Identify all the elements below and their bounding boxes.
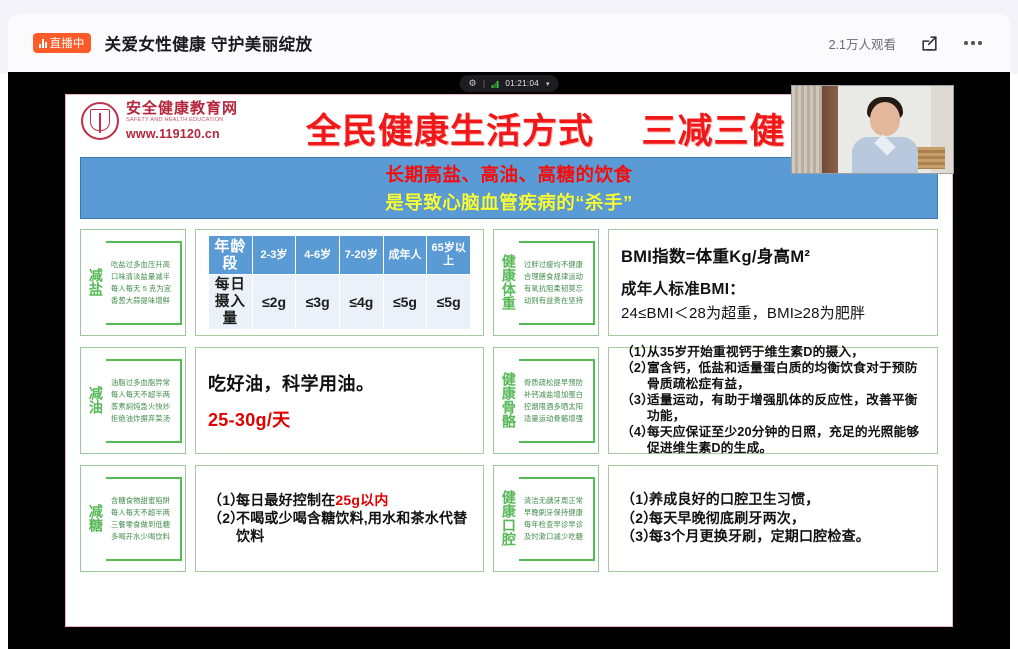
keyword-line: 三餐零食做到低糖	[111, 520, 178, 530]
list-item-text: 养成良好的口腔卫生习惯，	[649, 491, 925, 509]
keyword-lines: 含糖食物甜蜜陷阱 每人每天不超半两 三餐零食做到低糖 多喝开水少喝饮料	[106, 477, 182, 561]
viewer-count: 2.1万人观看	[829, 34, 896, 53]
content-row-salt: 减盐 吃盐过多血压升高 口味清淡盐量减半 每人每天 5 克为宜 香葱大蒜提味增鲜…	[80, 229, 938, 336]
header-actions: 2.1万人观看	[829, 32, 1010, 54]
keyword-line: 多喝开水少喝饮料	[111, 532, 178, 542]
keyword-label: 减糖	[84, 472, 106, 564]
keyword-line: 合理膳食规律运动	[524, 272, 591, 282]
list-item-number: （4）	[621, 425, 647, 456]
keyword-lines: 过胖过瘦均不健康 合理膳食规律运动 有氧抗阻柔韧莫忘 动则有益贵在坚持	[519, 241, 595, 325]
list-item-text: 每天应保证至少20分钟的日照，充足的光照能够促进维生素D的生成。	[647, 425, 925, 456]
keyword-line: 油脂过多血脂异常	[111, 378, 178, 388]
keyword-line: 蒸煮焖炖急火快炒	[111, 402, 178, 412]
keyword-lines: 吃盐过多血压升高 口味清淡盐量减半 每人每天 5 克为宜 香葱大蒜提味增鲜	[106, 241, 182, 325]
list-item-text: 不喝或少喝含糖饮料,用水和茶水代替饮料	[236, 510, 471, 545]
banner-line-1: 长期高盐、高油、高糖的饮食	[385, 161, 632, 187]
list-item-number: （2）	[208, 510, 236, 545]
keyword-line: 动则有益贵在坚持	[524, 296, 591, 306]
live-status-badge: 直播中	[33, 33, 91, 53]
list-item-text: 每天早晚彻底刷牙两次，	[649, 510, 925, 528]
list-item: （1） 从35岁开始重视钙于维生素D的摄入，	[621, 345, 925, 360]
keyword-line: 过胖过瘦均不健康	[524, 260, 591, 270]
keyword-line: 控烟限酒多晒太阳	[524, 402, 591, 412]
keyword-line: 每年检查早诊早诊	[524, 520, 591, 530]
keyword-line: 每人每天 5 克为宜	[111, 284, 178, 294]
keyword-card-oil: 减油 油脂过多血脂异常 每人每天不超半两 蒸煮焖炖急火快炒 拒绝油炸摒弃菜汤	[80, 347, 186, 454]
list-item: （3） 适量运动，有助于增强肌体的反应性，改善平衡功能，	[621, 393, 925, 424]
table-header-cell: 7-20岁	[339, 235, 383, 275]
keyword-label: 健康骨骼	[497, 354, 519, 446]
table-header-cell: 成年人	[383, 235, 427, 275]
table-row: 每日摄入量 ≤2g ≤3g ≤4g ≤5g ≤5g	[209, 275, 471, 330]
keyword-line: 有氧抗阻柔韧莫忘	[524, 284, 591, 294]
table-row-label: 每日摄入量	[209, 275, 253, 330]
slide-title: 全民健康生活方式 三减三健	[306, 103, 786, 154]
video-control-pill[interactable]: ⚙ 01:21:04 ▾	[460, 75, 559, 92]
salt-intake-table-card: 年龄段 2-3岁 4-6岁 7-20岁 成年人 65岁以上 每日摄入量 ≤2g …	[195, 229, 484, 336]
live-badge-label: 直播中	[50, 35, 85, 51]
logo-name-en: SAFETY AND HEALTH EDUCATION	[126, 118, 238, 124]
keyword-card-sugar: 减糖 含糖食物甜蜜陷阱 每人每天不超半两 三餐零食做到低糖 多喝开水少喝饮料	[80, 465, 186, 572]
shield-logo-icon	[81, 102, 119, 140]
list-item-number: （1）	[621, 491, 649, 509]
keyword-lines: 清洁无龋牙周正常 早晚刷牙保持健康 每年检查早诊早诊 及时漱口减少吃糖	[519, 477, 595, 561]
list-item-text: 每日最好控制在25g以内	[236, 492, 471, 510]
keyword-line: 香葱大蒜提味增鲜	[111, 296, 178, 306]
list-item-number: （1）	[621, 345, 647, 360]
elapsed-time: 01:21:04	[505, 79, 539, 88]
list-item: （3） 每3个月更换牙刷，定期口腔检查。	[621, 528, 925, 546]
table-cell: ≤3g	[296, 275, 340, 330]
bone-health-card: （1） 从35岁开始重视钙于维生素D的摄入， （2） 富含钙，低盐和适量蛋白质的…	[608, 347, 938, 454]
more-options-icon[interactable]	[962, 32, 984, 54]
keyword-label: 健康口腔	[497, 472, 519, 564]
keyword-line: 口味清淡盐量减半	[111, 272, 178, 282]
oil-advice-card: 吃好油，科学用油。 25-30g/天	[195, 347, 484, 454]
table-header-cell: 65岁以上	[427, 235, 471, 275]
divider	[484, 80, 485, 88]
table-header-cell: 4-6岁	[296, 235, 340, 275]
oil-advice-line-1: 吃好油，科学用油。	[208, 370, 471, 396]
keyword-label: 减油	[84, 354, 106, 446]
list-item: （4） 每天应保证至少20分钟的日照，充足的光照能够促进维生素D的生成。	[621, 425, 925, 456]
bmi-standard-value: 24≤BMI＜28为超重，BMI≥28为肥胖	[621, 302, 925, 323]
presenter-webcam[interactable]	[791, 85, 954, 174]
list-item-text: 富含钙，低盐和适量蛋白质的均衡饮食对于预防骨质疏松症有益，	[647, 361, 925, 392]
table-header-cell: 2-3岁	[252, 235, 296, 275]
list-item: （2） 每天早晚彻底刷牙两次，	[621, 510, 925, 528]
video-stage[interactable]: ⚙ 01:21:04 ▾ 安全健康教育网	[8, 72, 1010, 649]
content-row-sugar: 减糖 含糖食物甜蜜陷阱 每人每天不超半两 三餐零食做到低糖 多喝开水少喝饮料 （…	[80, 465, 938, 572]
table-header-cell: 年龄段	[209, 235, 253, 275]
list-item: （2） 不喝或少喝含糖饮料,用水和茶水代替饮料	[208, 510, 471, 545]
bmi-standard-label: 成年人标准BMI：	[621, 277, 925, 299]
keyword-line: 吃盐过多血压升高	[111, 260, 178, 270]
keyword-card-salt: 减盐 吃盐过多血压升高 口味清淡盐量减半 每人每天 5 克为宜 香葱大蒜提味增鲜	[80, 229, 186, 336]
keyword-line: 每人每天不超半两	[111, 508, 178, 518]
slide-title-left: 全民健康生活方式	[306, 112, 594, 151]
logo-url: www.119120.cn	[126, 128, 238, 141]
list-item-text: 每3个月更换牙刷，定期口腔检查。	[649, 528, 925, 546]
bmi-card: BMI指数=体重Kg/身高M² 成年人标准BMI： 24≤BMI＜28为超重，B…	[608, 229, 938, 336]
keyword-label: 减盐	[84, 236, 106, 328]
keyword-card-healthy-bones: 健康骨骼 骨质疏松提早预防 补钙减盐增加蛋白 控烟限酒多晒太阳 适量运动骨骼增强	[493, 347, 599, 454]
bmi-formula: BMI指数=体重Kg/身高M²	[621, 243, 925, 267]
stream-header-card: 直播中 关爱女性健康 守护美丽绽放 2.1万人观看	[8, 14, 1010, 72]
list-item-number: （2）	[621, 510, 649, 528]
slide-title-right: 三减三健	[641, 112, 785, 151]
list-item-number: （1）	[208, 492, 236, 510]
stream-title: 关爱女性健康 守护美丽绽放	[105, 31, 313, 55]
table-cell: ≤4g	[339, 275, 383, 330]
list-item-number: （3）	[621, 393, 647, 424]
webcam-curtain	[792, 86, 822, 173]
banner-line-2: 是导致心脑血管疾病的“杀手”	[385, 189, 633, 215]
chevron-down-icon[interactable]: ▾	[546, 80, 550, 88]
external-link-icon[interactable]	[918, 32, 940, 54]
keyword-lines: 骨质疏松提早预防 补钙减盐增加蛋白 控烟限酒多晒太阳 适量运动骨骼增强	[519, 359, 595, 443]
content-row-oil: 减油 油脂过多血脂异常 每人每天不超半两 蒸煮焖炖急火快炒 拒绝油炸摒弃菜汤 吃…	[80, 347, 938, 454]
table-header-row: 年龄段 2-3岁 4-6岁 7-20岁 成年人 65岁以上	[209, 235, 471, 275]
presenter-head	[870, 102, 900, 136]
webcam-door	[822, 86, 838, 173]
oral-health-list: （1） 养成良好的口腔卫生习惯， （2） 每天早晚彻底刷牙两次， （3） 每3个…	[621, 491, 925, 546]
sugar-advice-card: （1） 每日最好控制在25g以内 （2） 不喝或少喝含糖饮料,用水和茶水代替饮料	[195, 465, 484, 572]
table-cell: ≤5g	[427, 275, 471, 330]
list-item: （1） 每日最好控制在25g以内	[208, 492, 471, 510]
keyword-line: 早晚刷牙保持健康	[524, 508, 591, 518]
keyword-line: 含糖食物甜蜜陷阱	[111, 496, 178, 506]
sugar-advice-list: （1） 每日最好控制在25g以内 （2） 不喝或少喝含糖饮料,用水和茶水代替饮料	[208, 492, 471, 546]
keyword-line: 适量运动骨骼增强	[524, 414, 591, 424]
list-item-number: （2）	[621, 361, 647, 392]
salt-intake-table: 年龄段 2-3岁 4-6岁 7-20岁 成年人 65岁以上 每日摄入量 ≤2g …	[208, 235, 471, 331]
logo-name-cn: 安全健康教育网	[126, 101, 238, 116]
keyword-label: 健康体重	[497, 236, 519, 328]
keyword-line: 补钙减盐增加蛋白	[524, 390, 591, 400]
list-item-text: 从35岁开始重视钙于维生素D的摄入，	[647, 345, 925, 360]
keyword-line: 骨质疏松提早预防	[524, 378, 591, 388]
list-item: （2） 富含钙，低盐和适量蛋白质的均衡饮食对于预防骨质疏松症有益，	[621, 361, 925, 392]
keyword-line: 拒绝油炸摒弃菜汤	[111, 414, 178, 424]
table-cell: ≤2g	[252, 275, 296, 330]
list-item-text: 适量运动，有助于增强肌体的反应性，改善平衡功能，	[647, 393, 925, 424]
keyword-line: 及时漱口减少吃糖	[524, 532, 591, 542]
oil-advice-amount: 25-30g/天	[208, 406, 471, 432]
slide-content-grid: 减盐 吃盐过多血压升高 口味清淡盐量减半 每人每天 5 克为宜 香葱大蒜提味增鲜…	[80, 229, 938, 572]
signal-bars-icon	[492, 80, 499, 88]
list-item-number: （3）	[621, 528, 649, 546]
sugar-limit-value: 25g以内	[335, 492, 388, 508]
organization-logo: 安全健康教育网 SAFETY AND HEALTH EDUCATION www.…	[81, 101, 238, 140]
keyword-lines: 油脂过多血脂异常 每人每天不超半两 蒸煮焖炖急火快炒 拒绝油炸摒弃菜汤	[106, 359, 182, 443]
top-bar: 直播中 关爱女性健康 守护美丽绽放 2.1万人观看	[0, 0, 1018, 74]
list-item: （1） 养成良好的口腔卫生习惯，	[621, 491, 925, 509]
keyword-card-oral-health: 健康口腔 清洁无龋牙周正常 早晚刷牙保持健康 每年检查早诊早诊 及时漱口减少吃糖	[493, 465, 599, 572]
keyword-line: 清洁无龋牙周正常	[524, 496, 591, 506]
audio-bars-icon	[39, 39, 47, 48]
live-stream-page: 直播中 关爱女性健康 守护美丽绽放 2.1万人观看	[0, 0, 1018, 649]
keyword-card-healthy-weight: 健康体重 过胖过瘦均不健康 合理膳食规律运动 有氧抗阻柔韧莫忘 动则有益贵在坚持	[493, 229, 599, 336]
sugar-text-plain: 每日最好控制在	[236, 492, 335, 508]
keyword-line: 每人每天不超半两	[111, 390, 178, 400]
table-cell: ≤5g	[383, 275, 427, 330]
oral-health-card: （1） 养成良好的口腔卫生习惯， （2） 每天早晚彻底刷牙两次， （3） 每3个…	[608, 465, 938, 572]
bone-health-list: （1） 从35岁开始重视钙于维生素D的摄入， （2） 富含钙，低盐和适量蛋白质的…	[621, 345, 925, 456]
gear-icon[interactable]: ⚙	[469, 79, 477, 88]
